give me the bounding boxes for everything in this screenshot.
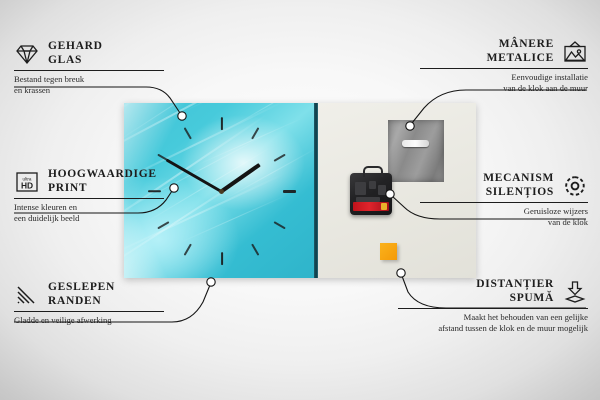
feature-desc-line1: Geruisloze wijzers bbox=[420, 206, 588, 217]
clock-tick bbox=[274, 154, 286, 162]
clock-hands-hub bbox=[219, 189, 224, 194]
feature-desc-line2: afstand tussen de klok en de muur mogeli… bbox=[398, 323, 588, 334]
mechanism-detail bbox=[378, 185, 386, 195]
feature-title: MECANISM SILENȚIOS bbox=[483, 172, 554, 199]
mechanism-detail bbox=[369, 181, 376, 189]
feature-title-line1: DISTANȚIER bbox=[476, 278, 554, 292]
feature-hoogwaardige-print: ultra HD HOOGWAARDIGE PRINT Intense kleu… bbox=[14, 168, 164, 223]
picture-frame-icon bbox=[562, 40, 588, 64]
feature-divider bbox=[420, 68, 588, 69]
feature-divider bbox=[14, 311, 164, 312]
ultra-hd-icon: ultra HD bbox=[14, 170, 40, 194]
battery-label bbox=[353, 202, 389, 211]
clock-tick bbox=[274, 221, 286, 229]
feature-divider bbox=[14, 198, 164, 199]
feature-title: GESLEPEN RANDEN bbox=[48, 281, 115, 308]
feature-title: HOOGWAARDIGE PRINT bbox=[48, 168, 157, 195]
feature-header: DISTANȚIER SPUMĂ bbox=[398, 278, 588, 305]
feature-header: GESLEPEN RANDEN bbox=[14, 281, 164, 308]
feature-desc-line2: een duidelijk beeld bbox=[14, 213, 164, 224]
feature-desc-line1: Gladde en veilige afwerking bbox=[14, 315, 164, 326]
feature-title-line1: MECANISM bbox=[483, 172, 554, 186]
feature-desc-line1: Maakt het behouden van een gelijke bbox=[398, 312, 588, 323]
clock-tick bbox=[220, 117, 222, 130]
feature-header: GEHARD GLAS bbox=[14, 40, 164, 67]
feature-title: DISTANȚIER SPUMĂ bbox=[476, 278, 554, 305]
feature-title-line2: SPUMĂ bbox=[476, 292, 554, 306]
feature-divider bbox=[420, 202, 588, 203]
infographic-canvas: GEHARD GLAS Bestand tegen breuk en krass… bbox=[0, 0, 600, 400]
feature-title-line1: GESLEPEN bbox=[48, 281, 115, 295]
diagonal-lines-icon bbox=[14, 283, 40, 307]
gear-icon bbox=[562, 174, 588, 198]
feather-streak bbox=[178, 194, 288, 244]
feature-desc-line1: Intense kleuren en bbox=[14, 202, 164, 213]
feature-description: Intense kleuren en een duidelijk beeld bbox=[14, 202, 164, 223]
feature-title: MÂNERE METALICE bbox=[487, 38, 554, 65]
feature-desc-line2: van de klok aan de muur bbox=[420, 83, 588, 94]
hanger-slot bbox=[402, 140, 429, 147]
feature-title-line1: HOOGWAARDIGE bbox=[48, 168, 157, 182]
clock-tick bbox=[184, 244, 192, 256]
feature-title-line1: GEHARD bbox=[48, 40, 103, 54]
feature-header: MECANISM SILENȚIOS bbox=[420, 172, 588, 199]
diamond-icon bbox=[14, 42, 40, 66]
feature-title-line2: PRINT bbox=[48, 182, 157, 196]
feature-desc-line2: en krassen bbox=[14, 85, 164, 96]
feature-gehard-glas: GEHARD GLAS Bestand tegen breuk en krass… bbox=[14, 40, 164, 95]
feature-title-line2: RANDEN bbox=[48, 295, 115, 309]
feature-mecanism-silentios: MECANISM SILENȚIOS Geruisloze wijzers va… bbox=[420, 172, 588, 227]
feature-description: Maakt het behouden van een gelijke afsta… bbox=[398, 312, 588, 333]
feature-title-line2: METALICE bbox=[487, 52, 554, 66]
feature-title-line2: GLAS bbox=[48, 54, 103, 68]
feather-streak bbox=[124, 103, 274, 163]
feature-header: MÂNERE METALICE bbox=[420, 38, 588, 65]
feature-description: Gladde en veilige afwerking bbox=[14, 315, 164, 326]
feature-header: ultra HD HOOGWAARDIGE PRINT bbox=[14, 168, 164, 195]
clock-tick bbox=[184, 127, 192, 139]
clock-tick bbox=[283, 190, 296, 192]
feather-streak bbox=[124, 103, 265, 144]
clock-tick bbox=[220, 252, 222, 265]
feature-title: GEHARD GLAS bbox=[48, 40, 103, 67]
svg-text:HD: HD bbox=[21, 180, 33, 190]
feature-desc-line1: Eenvoudige installatie bbox=[420, 72, 588, 83]
feature-geslepen-randen: GESLEPEN RANDEN Gladde en veilige afwerk… bbox=[14, 281, 164, 326]
hanger-loop-icon bbox=[363, 166, 383, 177]
mechanism-detail bbox=[355, 182, 366, 195]
feature-description: Eenvoudige installatie van de klok aan d… bbox=[420, 72, 588, 93]
feature-description: Geruisloze wijzers van de klok bbox=[420, 206, 588, 227]
feature-title-line2: SILENȚIOS bbox=[483, 186, 554, 200]
foam-spacer-pad bbox=[380, 243, 397, 260]
feature-description: Bestand tegen breuk en krassen bbox=[14, 74, 164, 95]
clock-mechanism bbox=[350, 173, 392, 215]
feature-divider bbox=[14, 70, 164, 71]
feather-streak bbox=[224, 146, 316, 200]
feature-desc-line1: Bestand tegen breuk bbox=[14, 74, 164, 85]
feature-desc-line2: van de klok bbox=[420, 217, 588, 228]
feature-divider bbox=[398, 308, 588, 309]
feature-distantier-spuma: DISTANȚIER SPUMĂ Maakt het behouden van … bbox=[398, 278, 588, 333]
feature-title-line1: MÂNERE bbox=[487, 38, 554, 52]
feature-manere-metalice: MÂNERE METALICE Eenvoudige installatie v… bbox=[420, 38, 588, 93]
clock-tick bbox=[251, 244, 259, 256]
arrow-onto-layers-icon bbox=[562, 280, 588, 304]
battery-terminal-icon bbox=[381, 203, 387, 210]
feather-streak bbox=[184, 103, 301, 112]
